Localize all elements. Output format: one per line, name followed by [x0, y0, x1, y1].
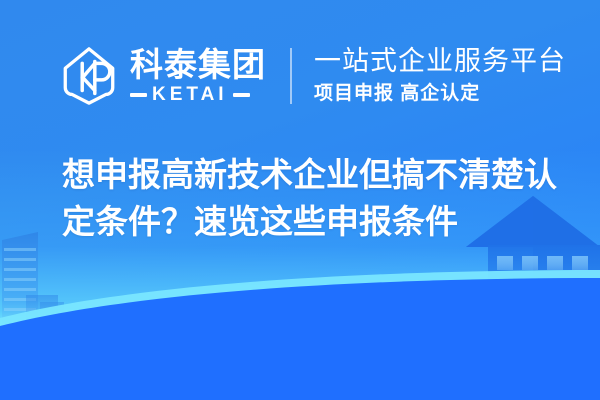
building-left-low-block	[26, 295, 64, 330]
header-divider	[290, 48, 292, 104]
building-right-mid-block	[467, 290, 519, 334]
tagline-sub: 项目申报 高企认定	[314, 83, 566, 106]
company-name-en-row: KETAI	[130, 85, 266, 104]
promo-banner: 科泰集团 KETAI 一站式企业服务平台 项目申报 高企认定 想申报高新技术企业…	[0, 0, 600, 400]
ketai-diamond-kp-monogram-icon	[58, 45, 120, 107]
building-left-skyscraper	[2, 232, 38, 330]
company-name-cn: 科泰集团	[130, 48, 266, 83]
brand-header: 科泰集团 KETAI 一站式企业服务平台 项目申报 高企认定	[58, 42, 566, 110]
logo-wordmark: 科泰集团 KETAI	[130, 48, 266, 105]
tagline-block: 一站式企业服务平台 项目申报 高企认定	[314, 46, 566, 105]
ground-wave	[0, 270, 600, 400]
tagline-main: 一站式企业服务平台	[314, 46, 566, 76]
dash-right-icon	[233, 93, 250, 97]
dash-left-icon	[130, 93, 147, 97]
page-title: 想申报高新技术企业但搞不清楚认定条件？速览这些申报条件	[62, 152, 562, 246]
company-name-en: KETAI	[152, 85, 228, 104]
